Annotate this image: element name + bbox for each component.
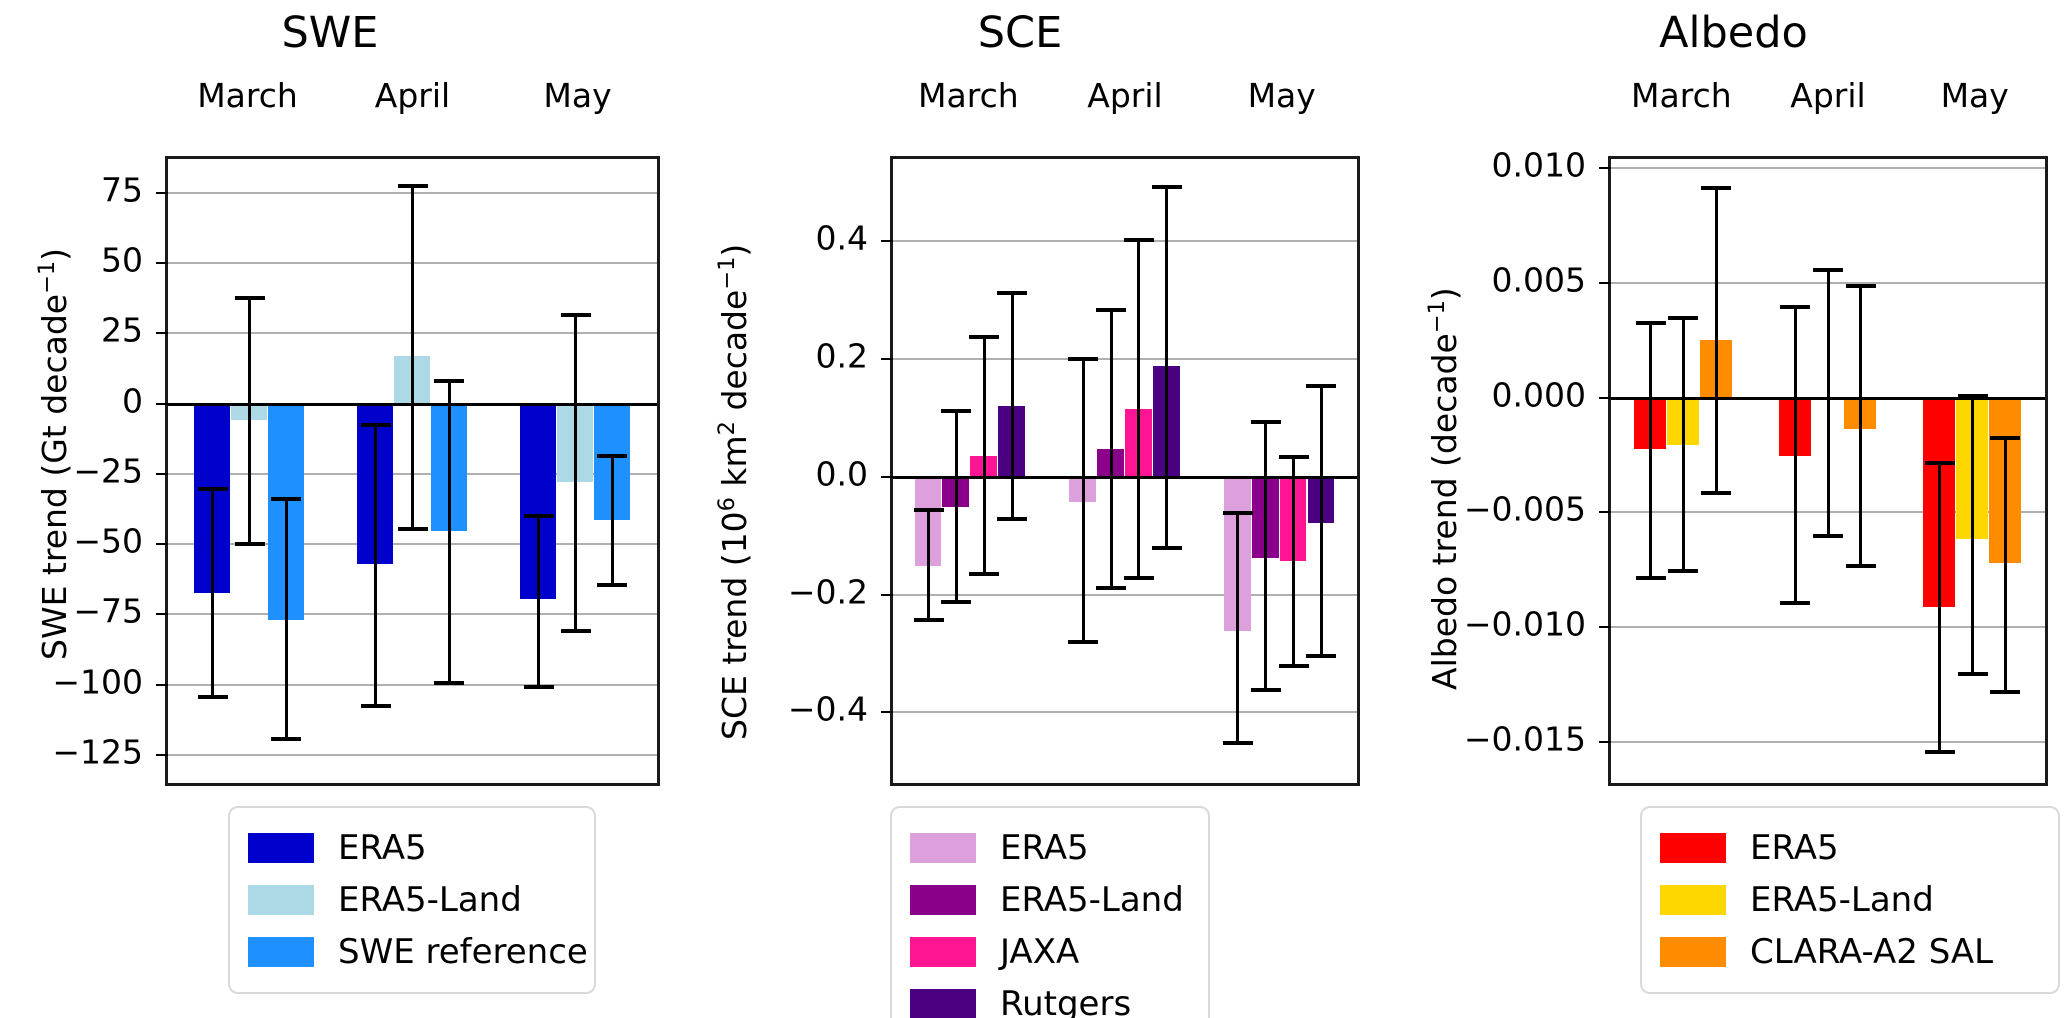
error-bar-stem [211, 489, 214, 697]
month-labels-albedo: March April May [1608, 75, 2048, 115]
error-bar-stem [448, 381, 451, 683]
figure-root: SWE March April May SWE trend (Gt decade… [0, 0, 2067, 1018]
legend-label-era5-land: ERA5-Land [1000, 880, 1184, 920]
error-bar-cap-lower [1636, 576, 1666, 580]
legend-item[interactable]: ERA5 [248, 822, 572, 874]
error-bar-cap-lower [1701, 491, 1731, 495]
error-bar-cap-upper [997, 291, 1027, 295]
gridline [168, 684, 657, 686]
y-axis-tick [881, 476, 893, 478]
error-bar-stem [1236, 513, 1239, 743]
legend-item[interactable]: ERA5-Land [248, 874, 572, 926]
legend-albedo: ERA5 ERA5-Land CLARA-A2 SAL [1640, 806, 2060, 994]
y-axis-tick [156, 262, 168, 264]
legend-swatch-era5-land [1660, 885, 1726, 915]
error-bar-cap-upper [1096, 308, 1126, 312]
y-axis-tick-label: 0.005 [1400, 260, 1586, 299]
legend-item[interactable]: ERA5-Land [1660, 874, 2036, 926]
y-axis-tick-label: −0.005 [1400, 490, 1586, 529]
error-bar-cap-upper [434, 379, 464, 383]
error-bar-stem [1715, 188, 1718, 493]
error-bar-stem [927, 510, 930, 619]
month-label-april: April [1755, 76, 1902, 115]
y-axis-tick [1599, 397, 1611, 399]
y-axis-tick [156, 403, 168, 405]
y-axis-tick [156, 192, 168, 194]
legend-item[interactable]: ERA5 [1660, 822, 2036, 874]
plot-area-sce [890, 156, 1360, 786]
y-axis-tick-label: 25 [0, 311, 143, 350]
error-bar-cap-lower [1068, 640, 1098, 644]
legend-swatch-swe-reference [248, 937, 314, 967]
y-axis-tick-label: 50 [0, 241, 143, 280]
gridline [893, 711, 1357, 713]
error-bar-cap-lower [914, 618, 944, 622]
error-bar-cap-upper [561, 313, 591, 317]
panel-title-swe: SWE [0, 8, 660, 58]
error-bar-cap-upper [941, 409, 971, 413]
error-bar-cap-lower [1668, 569, 1698, 573]
month-label-april: April [330, 76, 495, 115]
error-bar-cap-lower [235, 542, 265, 546]
gridline [1611, 167, 2045, 169]
panel-swe: SWE March April May SWE trend (Gt decade… [0, 0, 660, 1018]
error-bar-cap-lower [1279, 664, 1309, 668]
y-axis-tick-label: 0.010 [1400, 146, 1586, 185]
y-axis-tick-label: −100 [0, 662, 143, 701]
y-axis-tick-label: −125 [0, 732, 143, 771]
error-bar-cap-lower [969, 572, 999, 576]
error-bar-cap-lower [1958, 672, 1988, 676]
error-bar-cap-lower [361, 704, 391, 708]
error-bar-cap-upper [398, 184, 428, 188]
y-axis-tick [156, 613, 168, 615]
y-axis-tick [1599, 282, 1611, 284]
ylabel-exp6-sce: 6 [714, 497, 740, 511]
y-axis-tick-label: 75 [0, 170, 143, 209]
gridline [893, 358, 1357, 360]
legend-swatch-rutgers [910, 989, 976, 1018]
legend-label-clara-a2-sal: CLARA-A2 SAL [1750, 932, 1993, 972]
y-axis-tick-label: 0 [0, 381, 143, 420]
error-bar-cap-lower [198, 695, 228, 699]
y-axis-tick-label: 0.0 [690, 454, 868, 493]
error-bar-cap-upper [1780, 305, 1810, 309]
error-bar-cap-lower [1223, 741, 1253, 745]
error-bar-stem [411, 186, 414, 529]
error-bar-stem [1082, 359, 1085, 643]
legend-label-era5-land: ERA5-Land [1750, 880, 1934, 920]
error-bar-cap-lower [997, 517, 1027, 521]
y-axis-tick [881, 240, 893, 242]
y-axis-tick [1599, 741, 1611, 743]
error-bar-stem [1137, 240, 1140, 578]
panel-albedo: Albedo March April May Albedo trend (dec… [1400, 0, 2067, 1018]
zero-line [893, 476, 1357, 479]
ylabel-exp-albedo: −1 [1424, 300, 1450, 333]
legend-swatch-era5 [910, 833, 976, 863]
legend-item[interactable]: JAXA [910, 926, 1186, 978]
error-bar-stem [983, 337, 986, 574]
legend-label-swe-reference: SWE reference [338, 932, 588, 972]
error-bar-stem [955, 411, 958, 602]
error-bar-cap-upper [1223, 511, 1253, 515]
error-bar-cap-upper [597, 454, 627, 458]
error-bar-cap-upper [1068, 357, 1098, 361]
gridline [168, 613, 657, 615]
error-bar-cap-upper [969, 335, 999, 339]
y-axis-tick [881, 358, 893, 360]
error-bar-cap-lower [271, 737, 301, 741]
error-bar-stem [1827, 270, 1830, 536]
error-bar-cap-upper [524, 514, 554, 518]
legend-swatch-era5 [248, 833, 314, 863]
y-axis-tick-label: −0.2 [690, 572, 868, 611]
legend-item[interactable]: ERA5 [910, 822, 1186, 874]
error-bar-cap-upper [1152, 185, 1182, 189]
error-bar-cap-lower [1096, 586, 1126, 590]
error-bar-cap-lower [1990, 690, 2020, 694]
error-bar-cap-upper [235, 296, 265, 300]
error-bar-stem [2004, 438, 2007, 693]
error-bar-cap-upper [361, 423, 391, 427]
legend-swatch-era5 [1660, 833, 1726, 863]
error-bar-cap-upper [914, 508, 944, 512]
month-label-april: April [1047, 76, 1204, 115]
error-bar-stem [574, 315, 577, 631]
legend-swatch-jaxa [910, 937, 976, 967]
y-axis-tick [1599, 626, 1611, 628]
ylabel-exp2-sce: 2 [714, 421, 740, 435]
gridline [1611, 741, 2045, 743]
error-bar-cap-lower [1152, 546, 1182, 550]
gridline [1611, 626, 2045, 628]
y-axis-tick-label: −0.015 [1400, 719, 1586, 758]
month-label-may: May [495, 76, 660, 115]
error-bar-cap-upper [1636, 321, 1666, 325]
legend-label-jaxa: JAXA [1000, 932, 1079, 972]
error-bar-cap-upper [1306, 384, 1336, 388]
plot-area-albedo [1608, 156, 2048, 786]
error-bar-stem [1264, 422, 1267, 690]
error-bar-cap-lower [561, 629, 591, 633]
error-bar-stem [1938, 463, 1941, 752]
legend-label-era5: ERA5 [1750, 828, 1839, 868]
y-axis-tick [156, 543, 168, 545]
error-bar-stem [1110, 310, 1113, 587]
error-bar-stem [1682, 318, 1685, 570]
ylabel-expm1-sce: −1 [714, 257, 740, 290]
y-axis-tick-label: −25 [0, 451, 143, 490]
legend-item[interactable]: CLARA-A2 SAL [1660, 926, 2036, 978]
y-axis-tick [1599, 511, 1611, 513]
month-labels-sce: March April May [890, 75, 1360, 115]
legend-swe: ERA5 ERA5-Land SWE reference [228, 806, 596, 994]
month-label-march: March [165, 76, 330, 115]
legend-swatch-clara-a2-sal [1660, 937, 1726, 967]
error-bar-stem [1165, 187, 1168, 548]
y-axis-tick [156, 684, 168, 686]
legend-swatch-era5-land [248, 885, 314, 915]
y-axis-tick [1599, 167, 1611, 169]
error-bar-cap-lower [1780, 601, 1810, 605]
error-bar-cap-upper [271, 497, 301, 501]
y-axis-tick [881, 711, 893, 713]
y-axis-tick-label: −50 [0, 522, 143, 561]
y-axis-tick [156, 754, 168, 756]
panel-sce: SCE March April May SCE trend (106 km2 d… [690, 0, 1350, 1018]
plot-area-swe [165, 156, 660, 786]
panel-title-albedo: Albedo [1400, 8, 2067, 58]
error-bar-cap-upper [1925, 461, 1955, 465]
error-bar-stem [537, 516, 540, 687]
error-bar-cap-lower [434, 681, 464, 685]
error-bar-stem [1649, 323, 1652, 578]
y-axis-tick-label: −0.4 [690, 690, 868, 729]
error-bar-cap-lower [524, 685, 554, 689]
error-bar-cap-upper [1279, 455, 1309, 459]
month-label-may: May [1901, 76, 2048, 115]
error-bar-cap-upper [1701, 186, 1731, 190]
error-bar-cap-upper [1668, 316, 1698, 320]
error-bar-stem [1320, 386, 1323, 657]
error-bar-cap-lower [1925, 750, 1955, 754]
legend-sce: ERA5 ERA5-Land JAXA Rutgers [890, 806, 1210, 1018]
legend-item[interactable]: Rutgers [910, 978, 1186, 1018]
error-bar-cap-upper [1813, 268, 1843, 272]
legend-label-era5: ERA5 [338, 828, 427, 868]
y-axis-tick-label: −0.010 [1400, 605, 1586, 644]
error-bar-cap-upper [1990, 436, 2020, 440]
error-bar-stem [374, 425, 377, 706]
month-label-march: March [890, 76, 1047, 115]
y-axis-tick-label: −75 [0, 592, 143, 631]
error-bar-cap-lower [597, 583, 627, 587]
gridline [893, 594, 1357, 596]
error-bar-stem [1011, 293, 1014, 520]
y-axis-tick [156, 473, 168, 475]
legend-swatch-era5-land [910, 885, 976, 915]
error-bar-stem [1971, 396, 1974, 674]
error-bar-cap-lower [941, 600, 971, 604]
error-bar-cap-upper [198, 487, 228, 491]
error-bar-cap-lower [1251, 688, 1281, 692]
legend-item[interactable]: ERA5-Land [910, 874, 1186, 926]
error-bar-cap-lower [1306, 654, 1336, 658]
error-bar-cap-upper [1958, 394, 1988, 398]
month-labels-swe: March April May [165, 75, 660, 115]
error-bar-cap-lower [1124, 576, 1154, 580]
y-axis-tick-label: 0.2 [690, 337, 868, 376]
gridline [168, 754, 657, 756]
y-axis-tick-label: 0.000 [1400, 375, 1586, 414]
y-axis-tick [881, 594, 893, 596]
error-bar-cap-upper [1251, 420, 1281, 424]
y-axis-tick-label: 0.4 [690, 219, 868, 258]
error-bar-cap-lower [1846, 564, 1876, 568]
month-label-march: March [1608, 76, 1755, 115]
error-bar-cap-lower [1813, 534, 1843, 538]
error-bar-stem [285, 499, 288, 739]
legend-item[interactable]: SWE reference [248, 926, 572, 978]
error-bar-stem [1859, 286, 1862, 566]
error-bar-stem [1292, 457, 1295, 667]
legend-label-rutgers: Rutgers [1000, 984, 1131, 1018]
error-bar-cap-upper [1124, 238, 1154, 242]
legend-label-era5-land: ERA5-Land [338, 880, 522, 920]
error-bar-stem [248, 298, 251, 544]
legend-label-era5: ERA5 [1000, 828, 1089, 868]
error-bar-cap-lower [398, 527, 428, 531]
error-bar-cap-upper [1846, 284, 1876, 288]
month-label-may: May [1203, 76, 1360, 115]
y-axis-tick [156, 332, 168, 334]
error-bar-stem [1794, 307, 1797, 603]
panel-title-sce: SCE [690, 8, 1350, 58]
error-bar-stem [611, 456, 614, 585]
